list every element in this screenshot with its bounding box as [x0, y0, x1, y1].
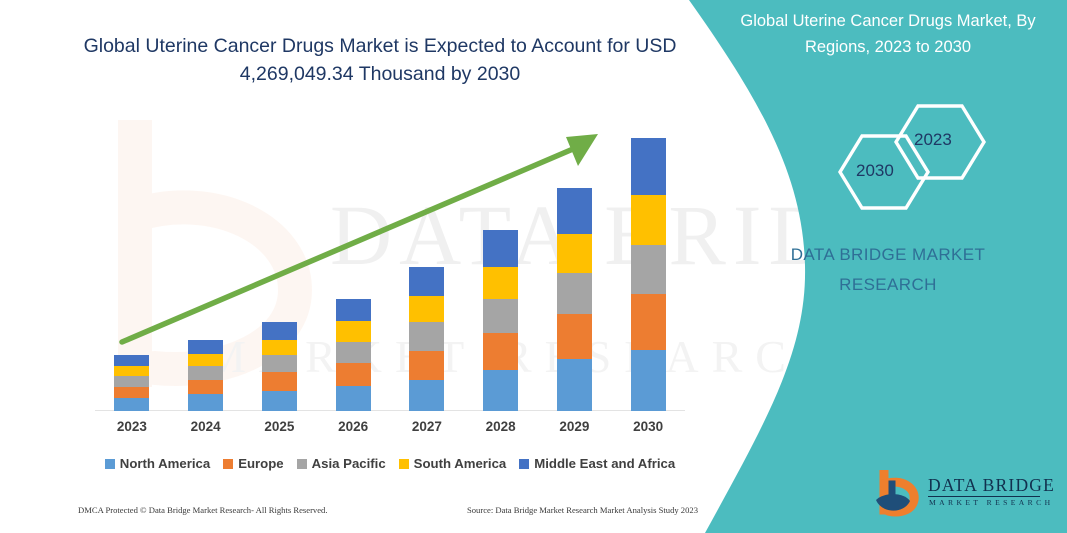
- chart-legend: North AmericaEuropeAsia PacificSouth Ame…: [95, 456, 685, 471]
- legend-item-south-america[interactable]: South America: [399, 456, 507, 471]
- hexagon-badges: 2030 2023: [810, 95, 1030, 215]
- hexagon-outlines-icon: [810, 95, 1030, 215]
- data-bridge-logo: DATA BRIDGE MARKET RESEARCH: [870, 470, 1050, 522]
- panel-brand-line1: DATA BRIDGE MARKET: [748, 240, 1028, 270]
- legend-label: South America: [414, 456, 507, 471]
- page-title: Global Uterine Cancer Drugs Market is Ex…: [70, 32, 690, 88]
- legend-swatch-icon: [297, 459, 307, 469]
- hexagon-label-2023: 2023: [914, 130, 952, 150]
- legend-swatch-icon: [399, 459, 409, 469]
- legend-label: Asia Pacific: [312, 456, 386, 471]
- legend-item-europe[interactable]: Europe: [223, 456, 283, 471]
- logo-wordmark: DATA BRIDGE: [928, 475, 1055, 496]
- infographic-canvas: DATA BRIDGE MARKET RESEARCH Global Uteri…: [0, 0, 1067, 533]
- panel-brand: DATA BRIDGE MARKET RESEARCH: [748, 240, 1028, 300]
- data-bridge-mark-icon: [870, 470, 926, 520]
- legend-item-north-america[interactable]: North America: [105, 456, 210, 471]
- legend-swatch-icon: [105, 459, 115, 469]
- hexagon-label-2030: 2030: [856, 161, 894, 181]
- legend-label: North America: [120, 456, 210, 471]
- logo-tagline: MARKET RESEARCH: [929, 498, 1054, 507]
- logo-divider: [928, 496, 1040, 497]
- legend-item-middle-east-and-africa[interactable]: Middle East and Africa: [519, 456, 675, 471]
- legend-swatch-icon: [223, 459, 233, 469]
- legend-label: Europe: [238, 456, 283, 471]
- teal-panel: Global Uterine Cancer Drugs Market, By R…: [700, 0, 1067, 533]
- panel-brand-line2: RESEARCH: [748, 270, 1028, 300]
- legend-label: Middle East and Africa: [534, 456, 675, 471]
- legend-item-asia-pacific[interactable]: Asia Pacific: [297, 456, 386, 471]
- legend-swatch-icon: [519, 459, 529, 469]
- panel-title: Global Uterine Cancer Drugs Market, By R…: [728, 8, 1048, 60]
